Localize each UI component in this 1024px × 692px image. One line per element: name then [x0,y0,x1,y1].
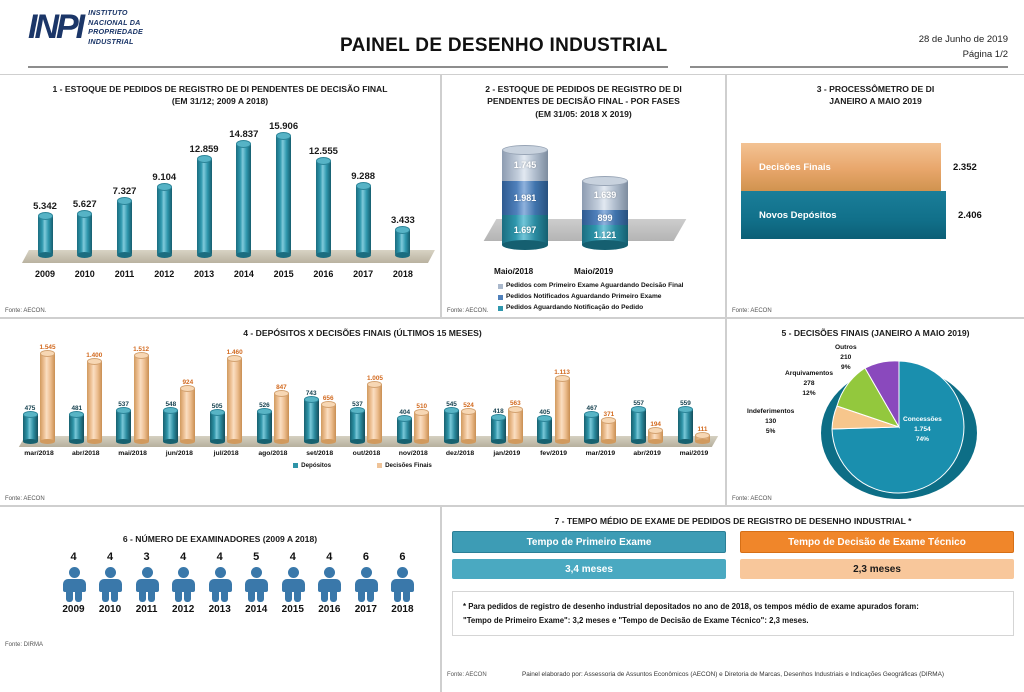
chart-2-title-line2: PENDENTES DE DECISÃO FINAL - POR FASES [442,95,725,107]
person-icon [280,567,306,601]
chart-6-title: 6 - NÚMERO DE EXAMINADORES (2009 A 2018) [0,507,440,545]
logo-text: INSTITUTO NACIONAL DA PROPRIEDADE INDUST… [88,8,143,47]
chart-3-value-decisoes-finais: 2.352 [953,162,977,173]
header-meta: 28 de Junho de 2019 Página 1/2 [919,33,1008,62]
chart-6-year-label: 2010 [99,604,121,615]
chart-3-bar-decisoes-finais: Decisões Finais [741,143,941,191]
panel-chart-4: 4 - DEPÓSITOS X DECISÕES FINAIS (ÚLTIMOS… [0,318,726,506]
pie-label-outros-name: Outros [835,343,857,353]
person-icon [170,567,196,601]
person-icon [316,567,342,601]
chart-2-stack: 1.6398991.121 [582,181,628,245]
chart-4-bar-item: 1.400 [86,352,102,441]
chart-4-xtick: fev/2019 [533,450,575,457]
chart-4-bar [257,411,272,441]
chart-1-xtick: 2010 [66,269,104,279]
chart-2-segment-label: 899 [597,213,612,223]
chart-1-bar-group: 3.433 [384,215,422,255]
chart-4-xtick: jan/2019 [486,450,528,457]
chart-4-xtick: jul/2018 [205,450,247,457]
chart-7-columns: Tempo de Primeiro Exame 3,4 meses Tempo … [452,531,1014,579]
pie-label-arquivamentos-value: 278 [785,379,833,389]
legend-swatch-icon [498,306,503,311]
report-date: 28 de Junho de 2019 [919,33,1008,48]
chart-2-segment-label: 1.981 [514,193,537,203]
chart-1-bar-group: 15.906 [265,121,303,255]
header-divider-right [690,66,1008,68]
chart-4-bar-group: 4051.113 [533,369,575,441]
chart-4-bar-item: 545 [444,401,459,441]
chart-3-source: Fonte: AECON [732,308,772,314]
chart-1-value-label: 9.288 [351,171,375,182]
chart-4-bar-item: 743 [304,390,319,441]
chart-1-xtick: 2018 [384,269,422,279]
chart-4-bar-item: 404 [397,409,412,441]
chart-4-bar-groups: 4751.5454811.4005371.5125489245051.46052… [18,341,715,441]
chart-4-legend: DepósitosDecisões Finais [4,462,721,469]
chart-4-xtick: dez/2018 [439,450,481,457]
chart-7-footnote: * Para pedidos de registro de desenho in… [452,591,1014,636]
chart-4-bar-item: 559 [678,400,693,441]
legend-swatch-icon [377,463,382,468]
chart-1-value-label: 12.859 [190,144,219,155]
logo-mark: INPI [28,10,82,44]
chart-1-bar-group: 7.327 [106,186,144,255]
chart-4-bar-item: 505 [210,403,225,441]
panel-chart-5: 5 - DECISÕES FINAIS (JANEIRO A MAIO 2019… [726,318,1024,506]
chart-4-bar-item: 563 [508,400,523,441]
chart-4-bar-group: 5371.005 [345,375,387,441]
chart-4-bar [210,412,225,441]
chart-4-bar-item: 405 [537,409,552,441]
chart-2-segment-label: 1.639 [594,190,617,200]
chart-2-legend-label: Pedidos Aguardando Notificação do Pedido [506,303,643,314]
panel-chart-6: 6 - NÚMERO DE EXAMINADORES (2009 A 2018)… [0,506,441,692]
chart-1-xtick: 2015 [265,269,303,279]
chart-2-source: Fonte: AECON. [447,308,488,314]
chart-4-bar [414,412,429,441]
person-icon [61,567,87,601]
chart-4-xtick: ago/2018 [252,450,294,457]
chart-6-count-label: 4 [290,551,296,563]
chart-4-bar [23,414,38,441]
chart-4-bar-item: 467 [584,405,599,441]
chart-4-bar [163,410,178,441]
chart-4-bar-item: 1.005 [367,375,383,441]
chart-2-cylinder-cap [582,176,628,186]
pie-label-indeferimentos-percent: 5% [747,427,794,437]
logo-line-2: NACIONAL DA [88,18,143,28]
chart-3-value-novos-depositos: 2.406 [958,210,982,221]
chart-1-xtick: 2009 [26,269,64,279]
chart-4-xtick: nov/2018 [392,450,434,457]
chart-4-bar [40,353,55,441]
chart-4-bar-group: 418563 [486,400,528,441]
chart-7-title: 7 - TEMPO MÉDIO DE EXAME DE PEDIDOS DE R… [442,507,1024,527]
pie-label-outros-value: 210 [835,353,857,363]
chart-4-bar-group: 526847 [252,384,294,441]
chart-1-xtick: 2012 [145,269,183,279]
chart-4-bar-item: 524 [461,402,476,441]
chart-7-head-primeiro-exame: Tempo de Primeiro Exame [452,531,726,553]
legend-swatch-icon [498,295,503,300]
chart-7-col-decisao-exame: Tempo de Decisão de Exame Técnico 2,3 me… [740,531,1014,579]
chart-2-legend-item: Pedidos Aguardando Notificação do Pedido [498,303,683,314]
chart-7-value-decisao-exame: 2,3 meses [740,559,1014,579]
chart-4-bar-item: 924 [180,379,195,441]
chart-1-xtick: 2011 [106,269,144,279]
chart-4-bar [397,418,412,441]
pie-label-outros-percent: 9% [835,363,857,373]
person-icon [207,567,233,601]
chart-4-bar-item: 111 [695,426,710,441]
chart-4-bar-item: 1.512 [133,346,149,441]
chart-4-xtick: mai/2018 [112,450,154,457]
chart-1-bar [276,135,291,255]
chart-4-bar [444,410,459,441]
chart-2-segment-label: 1.745 [514,160,537,170]
chart-4-xtick: set/2018 [299,450,341,457]
panel-chart-1: 1 - ESTOQUE DE PEDIDOS DE REGISTRO DE DI… [0,74,441,318]
chart-1-title: 1 - ESTOQUE DE PEDIDOS DE REGISTRO DE DI… [0,75,440,108]
chart-6-column: 52014 [239,551,274,615]
chart-3-title: 3 - PROCESSÔMETRO DE DI JANEIRO A MAIO 2… [727,75,1024,108]
chart-2-legend-label: Pedidos com Primeiro Exame Aguardando De… [506,281,683,292]
chart-1-xtick: 2017 [344,269,382,279]
chart-1-xtick: 2016 [304,269,342,279]
person-icon [389,567,415,601]
pie-label-arquivamentos: Arquivamentos 278 12% [785,369,833,399]
person-icon [243,567,269,601]
chart-6-year-label: 2009 [62,604,84,615]
chart-4-bar-item: 371 [601,411,616,441]
chart-6-year-label: 2017 [355,604,377,615]
chart-3-title-line1: 3 - PROCESSÔMETRO DE DI [727,83,1024,95]
chart-4-bar-item: 194 [648,421,663,441]
chart-4-bar-item: 1.113 [554,369,570,441]
chart-6-plot: 4200942010320114201242013520144201542016… [56,551,420,615]
chart-7-source: Fonte: AECON [447,672,487,678]
chart-4-legend-item: Depósitos [293,462,331,469]
chart-4-bar-item: 537 [116,401,131,441]
chart-4-xtick: mar/2019 [579,450,621,457]
chart-7-footnote-line2: "Tempo de Primeiro Exame": 3,2 meses e "… [463,614,1003,628]
chart-4-bar [537,418,552,441]
chart-2-segment: 1.981 [502,181,548,216]
chart-1-value-label: 14.837 [229,129,258,140]
chart-4-bar-group: 548924 [158,379,200,441]
chart-4-bar-group: 5051.460 [205,349,247,441]
chart-4-xtick: abr/2019 [626,450,668,457]
chart-6-column: 42015 [275,551,310,615]
person-icon [134,567,160,601]
chart-4-bar-group: 4751.545 [18,344,60,441]
chart-2-xtick: Maio/2018 [494,267,533,276]
chart-6-year-label: 2011 [136,604,158,615]
chart-2-legend: Pedidos com Primeiro Exame Aguardando De… [498,281,683,314]
chart-4-bar [274,393,289,441]
chart-4-source: Fonte: AECON [5,496,45,502]
chart-6-year-label: 2014 [245,604,267,615]
chart-6-year-label: 2018 [391,604,413,615]
chart-4-bar [601,420,616,441]
person-icon [97,567,123,601]
chart-1-bar-group: 9.104 [145,172,183,255]
header-divider-left [28,66,668,68]
chart-1-bar-group: 5.627 [66,199,104,255]
panel-chart-7: 7 - TEMPO MÉDIO DE EXAME DE PEDIDOS DE R… [441,506,1024,692]
pie-label-indeferimentos-value: 130 [747,417,794,427]
pie-label-arquivamentos-name: Arquivamentos [785,369,833,379]
chart-1-value-label: 12.555 [309,146,338,157]
chart-1-bar [197,158,212,255]
chart-4-bar-item: 656 [321,395,336,441]
chart-5-plot: Outros 210 9% Arquivamentos 278 12% Inde… [727,341,1024,501]
chart-4-xtick: out/2018 [345,450,387,457]
chart-1-bar-group: 12.859 [185,144,223,255]
chart-1-bar-group: 5.342 [26,201,64,255]
chart-4-bar-group: 4811.400 [65,352,107,441]
chart-4-bar-group: 557194 [626,400,668,441]
chart-4-bar [695,435,710,441]
chart-1-xtick: 2013 [185,269,223,279]
chart-6-year-label: 2016 [318,604,340,615]
chart-4-bar [678,409,693,441]
chart-6-count-label: 4 [107,551,113,563]
chart-4-bar [631,409,646,441]
chart-6-year-label: 2012 [172,604,194,615]
chart-4-bar [367,384,382,441]
chart-1-bar [77,213,92,255]
chart-1-title-line2: (EM 31/12; 2009 A 2018) [0,95,440,107]
chart-6-column: 62018 [385,551,420,615]
chart-6-year-label: 2013 [209,604,231,615]
pie-label-concessoes-percent: 74% [903,435,942,445]
pie-label-arquivamentos-percent: 12% [785,389,833,399]
chart-1-bar [316,160,331,255]
chart-2-legend-item: Pedidos Notificados Aguardando Primeiro … [498,292,683,303]
chart-4-bar [87,361,102,441]
logo-line-3: PROPRIEDADE [88,27,143,37]
chart-6-column: 42010 [93,551,128,615]
chart-2-cylinder-base [502,240,548,250]
chart-6-column: 42012 [166,551,201,615]
chart-4-bar [461,411,476,441]
panel-chart-2: 2 - ESTOQUE DE PEDIDOS DE REGISTRO DE DI… [441,74,726,318]
chart-1-bar-group: 14.837 [225,129,263,255]
chart-4-bar [69,414,84,441]
chart-1-bar [395,229,410,255]
chart-6-column: 42009 [56,551,91,615]
chart-7-head-decisao-exame: Tempo de Decisão de Exame Técnico [740,531,1014,553]
chart-1-value-label: 3.433 [391,215,415,226]
chart-4-bar-item: 548 [163,401,178,441]
pie-label-indeferimentos-name: Indeferimentos [747,407,794,417]
chart-7-col-primeiro-exame: Tempo de Primeiro Exame 3,4 meses [452,531,726,579]
chart-4-bar-group: 467371 [579,405,621,441]
chart-6-column: 42016 [312,551,347,615]
logo-line-1: INSTITUTO [88,8,143,18]
pie-label-concessoes-name: Concessões [903,415,942,425]
chart-1-value-label: 9.104 [152,172,176,183]
chart-4-bar-item: 1.460 [227,349,243,441]
chart-3-title-line2: JANEIRO A MAIO 2019 [727,95,1024,107]
chart-4-legend-item: Decisões Finais [377,462,432,469]
dashboard-page: INPI INSTITUTO NACIONAL DA PROPRIEDADE I… [0,0,1024,692]
chart-2-title-line1: 2 - ESTOQUE DE PEDIDOS DE REGISTRO DE DI [442,83,725,95]
pie-label-outros: Outros 210 9% [835,343,857,373]
chart-2-title-line3: (EM 31/05: 2018 X 2019) [442,108,725,120]
chart-4-bar-item: 847 [274,384,289,441]
chart-3-bar-novos-depositos: Novos Depósitos [741,191,946,239]
chart-4-bar-group: 404510 [392,403,434,441]
chart-2-cylinder-base [582,240,628,250]
dashboard-footer-credit: Painel elaborado por: Assessoria de Assu… [522,671,1020,678]
chart-6-count-label: 4 [70,551,76,563]
chart-4-bar-group: 5371.512 [112,346,154,441]
chart-4-bar-item: 418 [491,408,506,441]
chart-4-xtick: mai/2019 [673,450,715,457]
chart-4-bar [508,409,523,441]
person-icon [353,567,379,601]
chart-1-xaxis: 2009201020112012201320142015201620172018 [26,269,422,279]
chart-2-cylinder-cap [502,145,548,155]
chart-1-bar [117,200,132,255]
chart-2-title: 2 - ESTOQUE DE PEDIDOS DE REGISTRO DE DI… [442,75,725,120]
chart-2-segment-label: 1.121 [594,230,617,240]
pie-label-concessoes: Concessões 1.754 74% [903,415,942,445]
logo-line-4: INDUSTRIAL [88,37,143,47]
chart-6-column: 32011 [129,551,164,615]
chart-3-row-depositos: Novos Depósitos 2.406 [741,191,1014,239]
chart-4-bar [134,355,149,441]
chart-1-value-label: 5.627 [73,199,97,210]
chart-7-content: Tempo de Primeiro Exame 3,4 meses Tempo … [452,531,1014,636]
panel-chart-3: 3 - PROCESSÔMETRO DE DI JANEIRO A MAIO 2… [726,74,1024,318]
chart-6-count-label: 4 [180,551,186,563]
chart-4-bar-item: 557 [631,400,646,441]
chart-4-bar-group: 559111 [673,400,715,441]
chart-4-title: 4 - DEPÓSITOS X DECISÕES FINAIS (ÚLTIMOS… [0,319,725,339]
chart-2-legend-item: Pedidos com Primeiro Exame Aguardando De… [498,281,683,292]
chart-1-bars: 5.3425.6277.3279.10412.85914.83715.90612… [26,123,422,255]
chart-6-count-label: 6 [363,551,369,563]
chart-4-xtick: abr/2018 [65,450,107,457]
chart-1-title-line1: 1 - ESTOQUE DE PEDIDOS DE REGISTRO DE DI… [0,83,440,95]
pie-label-concessoes-value: 1.754 [903,425,942,435]
chart-2-legend-label: Pedidos Notificados Aguardando Primeiro … [506,292,661,303]
chart-4-bar [321,404,336,441]
chart-4-bar [648,430,663,441]
chart-7-value-primeiro-exame: 3,4 meses [452,559,726,579]
chart-2-segment: 899 [582,210,628,226]
chart-3-plot: Decisões Finais 2.352 Novos Depósitos 2.… [741,143,1014,239]
chart-6-count-label: 3 [144,551,150,563]
chart-1-plot: 5.3425.6277.3279.10412.85914.83715.90612… [10,123,432,285]
chart-2-plot: 1.7451.9811.6971.6398991.121 [442,133,726,263]
chart-6-count-label: 4 [326,551,332,563]
page-number: Página 1/2 [919,48,1008,63]
chart-4-bar-item: 510 [414,403,429,441]
chart-6-count-label: 6 [399,551,405,563]
chart-4-plot: 4751.5454811.4005371.5125489245051.46052… [4,341,721,471]
chart-6-source: Fonte: DIRMA [5,642,43,648]
chart-4-bar-item: 475 [23,405,38,441]
chart-1-bar-group: 9.288 [344,171,382,255]
chart-6-pictogram-row: 4200942010320114201242013520144201542016… [56,551,420,615]
chart-5-source: Fonte: AECON [732,496,772,502]
chart-6-column: 42013 [202,551,237,615]
chart-4-bar-item: 526 [257,402,272,441]
legend-swatch-icon [293,463,298,468]
page-header: INPI INSTITUTO NACIONAL DA PROPRIEDADE I… [0,0,1024,72]
chart-1-source: Fonte: AECON. [5,308,46,314]
chart-4-bar-item: 481 [69,405,84,441]
chart-1-bar-group: 12.555 [304,146,342,255]
chart-3-row-decisoes: Decisões Finais 2.352 [741,143,1014,191]
chart-4-xtick: jun/2018 [158,450,200,457]
legend-swatch-icon [498,284,503,289]
chart-4-bar [116,410,131,441]
chart-7-footnote-line1: * Para pedidos de registro de desenho in… [463,600,1003,614]
chart-1-bar [236,143,251,255]
chart-4-legend-label: Depósitos [301,462,331,469]
chart-6-count-label: 4 [217,551,223,563]
chart-1-value-label: 5.342 [33,201,57,212]
chart-4-bar [180,388,195,441]
chart-1-value-label: 7.327 [113,186,137,197]
chart-5-title: 5 - DECISÕES FINAIS (JANEIRO A MAIO 2019… [727,319,1024,339]
pie-label-indeferimentos: Indeferimentos 130 5% [747,407,794,437]
chart-4-xtick: mar/2018 [18,450,60,457]
chart-4-bar [350,410,365,441]
chart-4-bar-group: 743656 [299,390,341,441]
chart-4-bar-group: 545524 [439,401,481,441]
chart-1-xtick: 2014 [225,269,263,279]
chart-4-bar-item: 1.545 [40,344,56,441]
chart-4-bar [555,378,570,441]
inpi-logo: INPI INSTITUTO NACIONAL DA PROPRIEDADE I… [28,8,143,47]
chart-2-segment-label: 1.697 [514,225,537,235]
chart-4-legend-label: Decisões Finais [385,462,432,469]
chart-6-year-label: 2015 [282,604,304,615]
chart-1-value-label: 15.906 [269,121,298,132]
chart-6-count-label: 5 [253,551,259,563]
chart-1-bar [356,185,371,255]
page-title: PAINEL DE DESENHO INDUSTRIAL [340,35,668,57]
chart-2-xtick: Maio/2019 [574,267,613,276]
chart-6-column: 62017 [348,551,383,615]
chart-4-bar [227,358,242,441]
chart-4-bar [491,417,506,441]
chart-4-bar [584,414,599,441]
chart-1-bar [38,215,53,255]
chart-4-bar [304,399,319,441]
chart-1-bar [157,186,172,255]
chart-4-bar-item: 537 [350,401,365,441]
chart-2-stack: 1.7451.9811.697 [502,150,548,245]
chart-4-xaxis: mar/2018abr/2018mai/2018jun/2018jul/2018… [18,450,715,457]
